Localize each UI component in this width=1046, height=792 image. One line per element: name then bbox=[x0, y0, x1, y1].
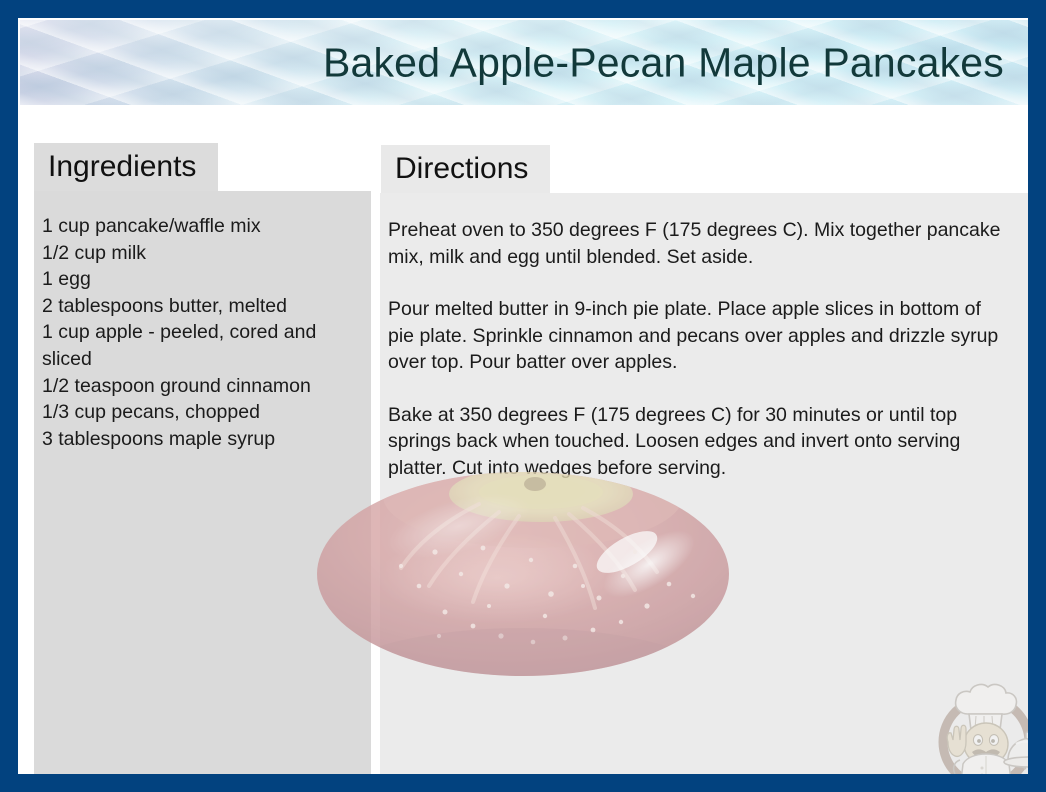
list-item: 1 cup apple - peeled, cored and sliced bbox=[42, 319, 357, 372]
direction-step: Preheat oven to 350 degrees F (175 degre… bbox=[388, 217, 1012, 270]
recipe-card: Baked Apple-Pecan Maple Pancakes Ingredi… bbox=[0, 0, 1046, 792]
list-item: 1 cup pancake/waffle mix bbox=[42, 213, 357, 240]
ingredients-panel: 1 cup pancake/waffle mix 1/2 cup milk 1 … bbox=[34, 191, 371, 792]
directions-panel: Preheat oven to 350 degrees F (175 degre… bbox=[380, 193, 1028, 792]
list-item: 1/2 cup milk bbox=[42, 240, 357, 267]
tab-directions: Directions bbox=[381, 145, 550, 195]
direction-step: Bake at 350 degrees F (175 degrees C) fo… bbox=[388, 402, 1012, 482]
page-title: Baked Apple-Pecan Maple Pancakes bbox=[323, 39, 1004, 86]
tab-ingredients: Ingredients bbox=[34, 143, 218, 193]
direction-step: Pour melted butter in 9-inch pie plate. … bbox=[388, 296, 1012, 376]
list-item: 1/3 cup pecans, chopped bbox=[42, 399, 357, 426]
list-item: 3 tablespoons maple syrup bbox=[42, 426, 357, 453]
list-item: 2 tablespoons butter, melted bbox=[42, 293, 357, 320]
title-banner: Baked Apple-Pecan Maple Pancakes bbox=[20, 20, 1028, 105]
ingredients-list: 1 cup pancake/waffle mix 1/2 cup milk 1 … bbox=[42, 213, 357, 452]
list-item: 1/2 teaspoon ground cinnamon bbox=[42, 373, 357, 400]
list-item: 1 egg bbox=[42, 266, 357, 293]
